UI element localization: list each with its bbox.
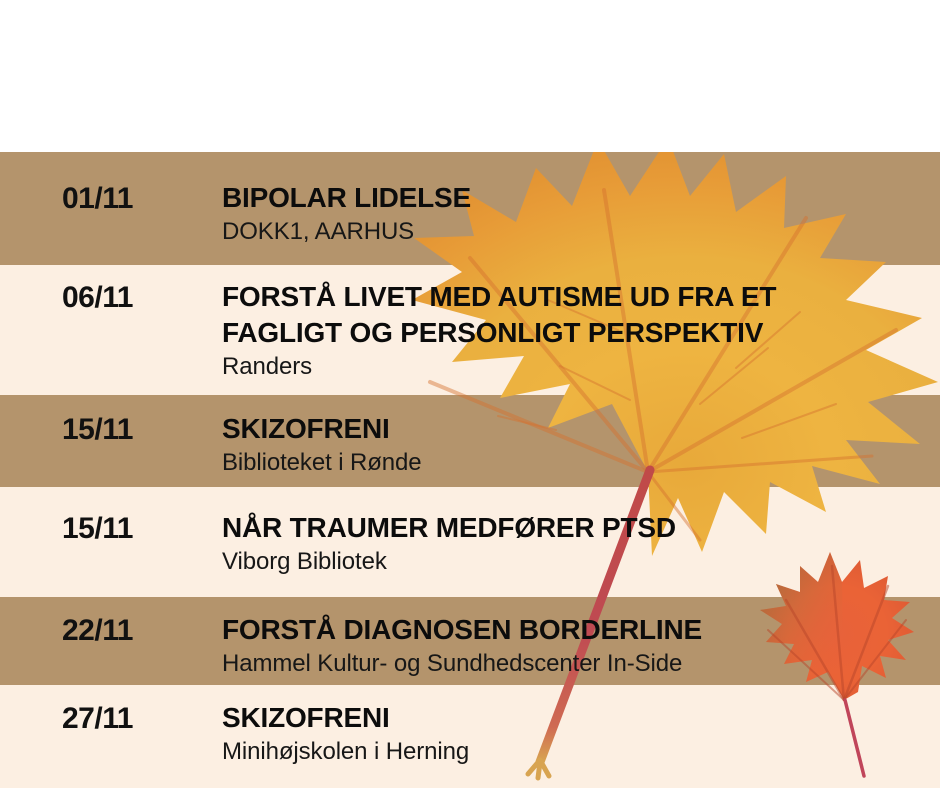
event-title: FORSTÅ DIAGNOSEN BORDERLINE bbox=[222, 612, 934, 648]
event-body: SKIZOFRENI Biblioteket i Rønde bbox=[222, 411, 934, 478]
event-venue: DOKK1, AARHUS bbox=[222, 217, 934, 247]
poster-canvas: Temaaftener i november 01/11 BIPOLAR LID… bbox=[0, 0, 940, 788]
event-date: 01/11 bbox=[62, 182, 133, 216]
event-venue: Randers bbox=[222, 352, 934, 382]
event-body: FORSTÅ DIAGNOSEN BORDERLINE Hammel Kultu… bbox=[222, 612, 934, 679]
event-date: 15/11 bbox=[62, 512, 133, 546]
event-title-line1: BIPOLAR LIDELSE bbox=[222, 182, 471, 213]
event-title: SKIZOFRENI bbox=[222, 411, 934, 447]
event-row: 15/11 NÅR TRAUMER MEDFØRER PTSD Viborg B… bbox=[0, 487, 940, 597]
event-title-line2: FAGLIGT OG PERSONLIGT PERSPEKTIV bbox=[222, 315, 934, 351]
event-body: SKIZOFRENI Minihøjskolen i Herning bbox=[222, 700, 934, 767]
event-venue: Hammel Kultur- og Sundhedscenter In-Side bbox=[222, 649, 934, 679]
event-title-line1: FORSTÅ DIAGNOSEN BORDERLINE bbox=[222, 614, 702, 645]
event-title-line1: FORSTÅ LIVET MED AUTISME UD FRA ET bbox=[222, 281, 776, 312]
event-body: NÅR TRAUMER MEDFØRER PTSD Viborg Bibliot… bbox=[222, 510, 934, 577]
event-body: BIPOLAR LIDELSE DOKK1, AARHUS bbox=[222, 180, 934, 247]
event-title-line1: SKIZOFRENI bbox=[222, 702, 390, 733]
event-row: 15/11 SKIZOFRENI Biblioteket i Rønde bbox=[0, 395, 940, 487]
event-title: SKIZOFRENI bbox=[222, 700, 934, 736]
event-venue: Biblioteket i Rønde bbox=[222, 448, 934, 478]
event-venue: Minihøjskolen i Herning bbox=[222, 737, 934, 767]
event-title-line1: NÅR TRAUMER MEDFØRER PTSD bbox=[222, 512, 676, 543]
event-date: 27/11 bbox=[62, 702, 133, 736]
event-row: 01/11 BIPOLAR LIDELSE DOKK1, AARHUS bbox=[0, 152, 940, 265]
event-title: FORSTÅ LIVET MED AUTISME UD FRA ET FAGLI… bbox=[222, 279, 934, 351]
header-band bbox=[0, 0, 940, 152]
event-row: 22/11 FORSTÅ DIAGNOSEN BORDERLINE Hammel… bbox=[0, 597, 940, 685]
event-body: FORSTÅ LIVET MED AUTISME UD FRA ET FAGLI… bbox=[222, 279, 934, 382]
event-date: 22/11 bbox=[62, 614, 133, 648]
event-venue: Viborg Bibliotek bbox=[222, 547, 934, 577]
event-date: 06/11 bbox=[62, 281, 133, 315]
event-row: 06/11 FORSTÅ LIVET MED AUTISME UD FRA ET… bbox=[0, 265, 940, 395]
event-title-line1: SKIZOFRENI bbox=[222, 413, 390, 444]
event-title: NÅR TRAUMER MEDFØRER PTSD bbox=[222, 510, 934, 546]
event-title: BIPOLAR LIDELSE bbox=[222, 180, 934, 216]
event-date: 15/11 bbox=[62, 413, 133, 447]
event-row: 27/11 SKIZOFRENI Minihøjskolen i Herning bbox=[0, 685, 940, 788]
